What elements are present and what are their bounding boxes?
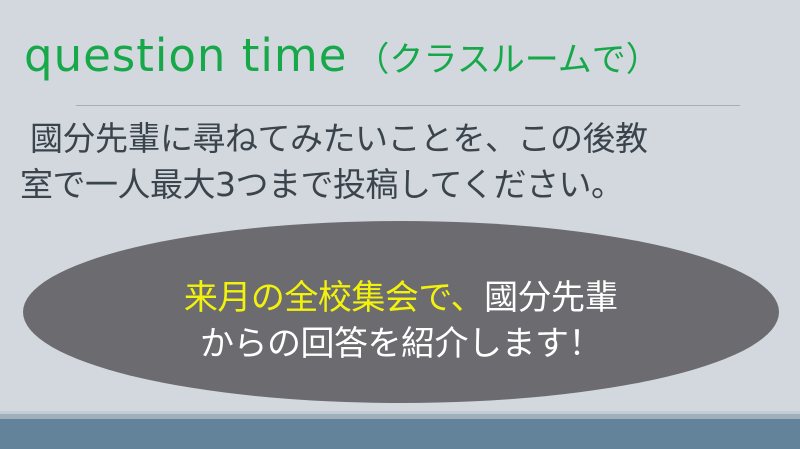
slide-title-english: question time <box>24 33 347 78</box>
slide-title: question time （クラスルームで） <box>24 33 780 95</box>
slide-title-japanese: （クラスルームで） <box>355 43 659 77</box>
callout-line-1: 来月の全校集会で、國分先輩 <box>184 275 618 321</box>
title-divider-rule <box>76 105 740 106</box>
body-paragraph: 國分先輩に尋ねてみたいことを、この後教 室で一人最大3つまで投稿してください。 <box>20 116 788 208</box>
callout-line-2: からの回答を紹介します！ <box>200 321 602 367</box>
presentation-slide: question time （クラスルームで） 國分先輩に尋ねてみたいことを、こ… <box>0 0 800 449</box>
ellipse-callout: 来月の全校集会で、國分先輩 からの回答を紹介します！ <box>23 221 779 403</box>
callout-line-1-rest: 國分先輩 <box>484 278 618 318</box>
footer-bar <box>0 419 800 449</box>
body-paragraph-line-1: 國分先輩に尋ねてみたいことを、この後教 <box>20 116 788 162</box>
body-paragraph-line-2: 室で一人最大3つまで投稿してください。 <box>20 162 788 208</box>
callout-highlight-text: 来月の全校集会で、 <box>184 278 484 318</box>
